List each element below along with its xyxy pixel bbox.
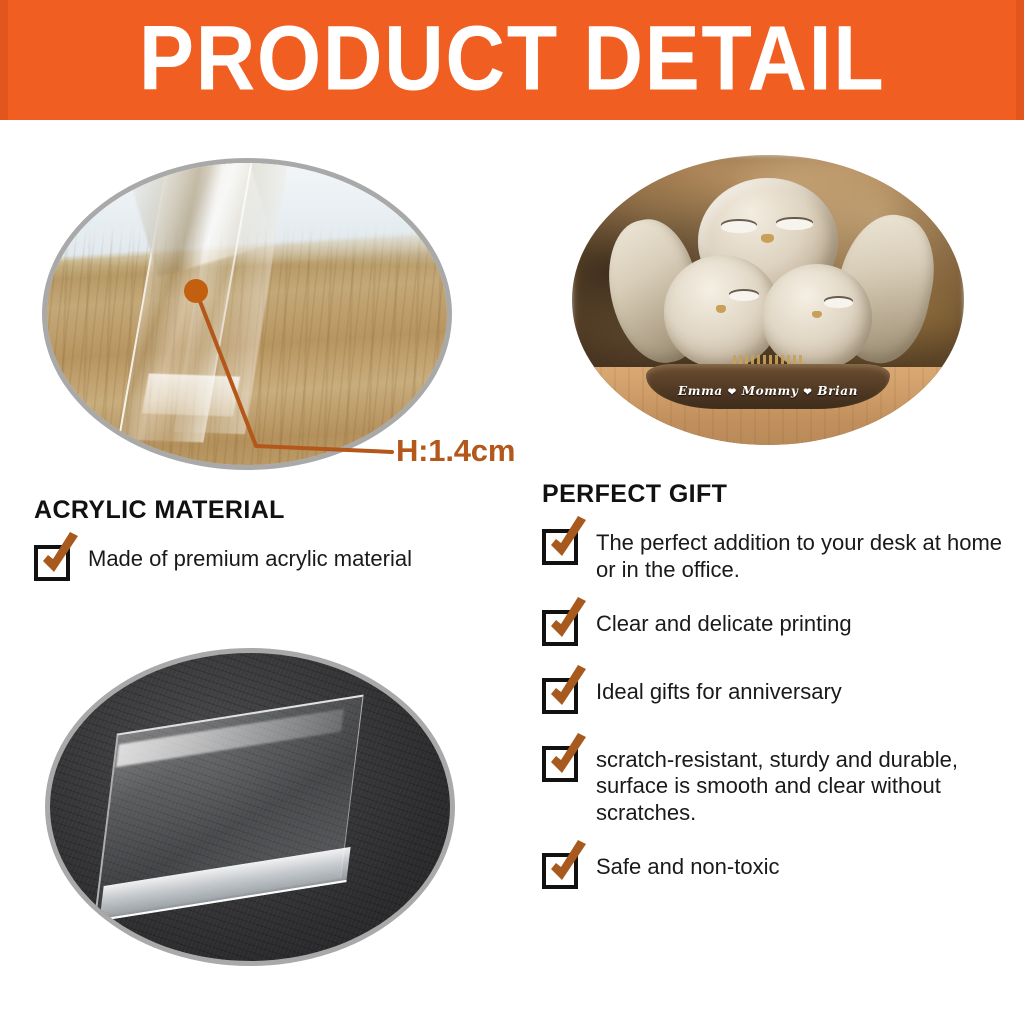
check-mark-icon [541, 665, 593, 717]
feature-text: The perfect addition to your desk at hom… [596, 527, 1010, 584]
product-detail-page: PRODUCT DETAIL [0, 0, 1024, 1024]
check-mark-icon [541, 516, 593, 568]
check-mark-icon [33, 532, 85, 584]
owl-figurine-group: Emma❤Mommy❤Brian [623, 178, 913, 404]
section-heading-perfect-gift: PERFECT GIFT [542, 480, 1010, 509]
checkbox-checked-icon [34, 545, 70, 581]
page-title: PRODUCT DETAIL [139, 12, 885, 109]
acrylic-block-scene [50, 653, 450, 961]
feature-item: scratch-resistant, sturdy and durable, s… [542, 744, 1010, 827]
owl-mother-eye-left [721, 221, 757, 232]
owl-scene: Emma❤Mommy❤Brian [572, 155, 964, 445]
engraved-name-1: Emma [678, 384, 723, 398]
feature-item: Made of premium acrylic material [34, 543, 524, 581]
heart-icon: ❤ [728, 387, 737, 398]
feature-item: The perfect addition to your desk at hom… [542, 527, 1010, 584]
owl-mother-eye-right [776, 219, 812, 230]
feature-text: Safe and non-toxic [596, 851, 779, 881]
heart-icon: ❤ [803, 387, 812, 398]
acrylic-base-reflection [142, 373, 241, 416]
feature-list-perfect-gift: The perfect addition to your desk at hom… [542, 527, 1010, 889]
owl-chick-left-eye [729, 291, 759, 301]
section-acrylic-material: ACRYLIC MATERIAL Made of premium acrylic… [34, 496, 524, 581]
owl-wooden-base: Emma❤Mommy❤Brian [646, 364, 890, 409]
owl-family-figurine-photo: Emma❤Mommy❤Brian [572, 155, 964, 445]
feature-item: Clear and delicate printing [542, 608, 1010, 646]
feature-item: Ideal gifts for anniversary [542, 676, 1010, 714]
checkbox-checked-icon [542, 610, 578, 646]
owl-chick-right-eye [824, 298, 853, 308]
thickness-label: H:1.4cm [396, 433, 515, 469]
engraved-name-3: Brian [817, 384, 858, 398]
engraved-name-2: Mommy [742, 384, 799, 398]
checkbox-checked-icon [542, 746, 578, 782]
check-mark-icon [541, 733, 593, 785]
engraved-names: Emma❤Mommy❤Brian [646, 384, 890, 398]
acrylic-block-photo [45, 648, 455, 966]
section-heading-acrylic-material: ACRYLIC MATERIAL [34, 496, 524, 525]
owl-chick-left-beak [716, 305, 726, 313]
checkbox-checked-icon [542, 529, 578, 565]
check-mark-icon [541, 597, 593, 649]
checkbox-checked-icon [542, 853, 578, 889]
feature-text: Made of premium acrylic material [88, 543, 412, 573]
feature-list-acrylic-material: Made of premium acrylic material [34, 543, 524, 581]
section-perfect-gift: PERFECT GIFT The perfect addition to you… [542, 480, 1010, 889]
acrylic-edge-scene [47, 163, 447, 465]
feature-text: Ideal gifts for anniversary [596, 676, 842, 706]
checkbox-checked-icon [542, 678, 578, 714]
feature-item: Safe and non-toxic [542, 851, 1010, 889]
feature-text: scratch-resistant, sturdy and durable, s… [596, 744, 1010, 827]
acrylic-edge-photo [42, 158, 452, 470]
page-header-banner: PRODUCT DETAIL [0, 0, 1024, 120]
check-mark-icon [541, 840, 593, 892]
owl-chick-right-beak [812, 311, 822, 318]
feature-text: Clear and delicate printing [596, 608, 852, 638]
owl-mother-beak [761, 234, 774, 243]
